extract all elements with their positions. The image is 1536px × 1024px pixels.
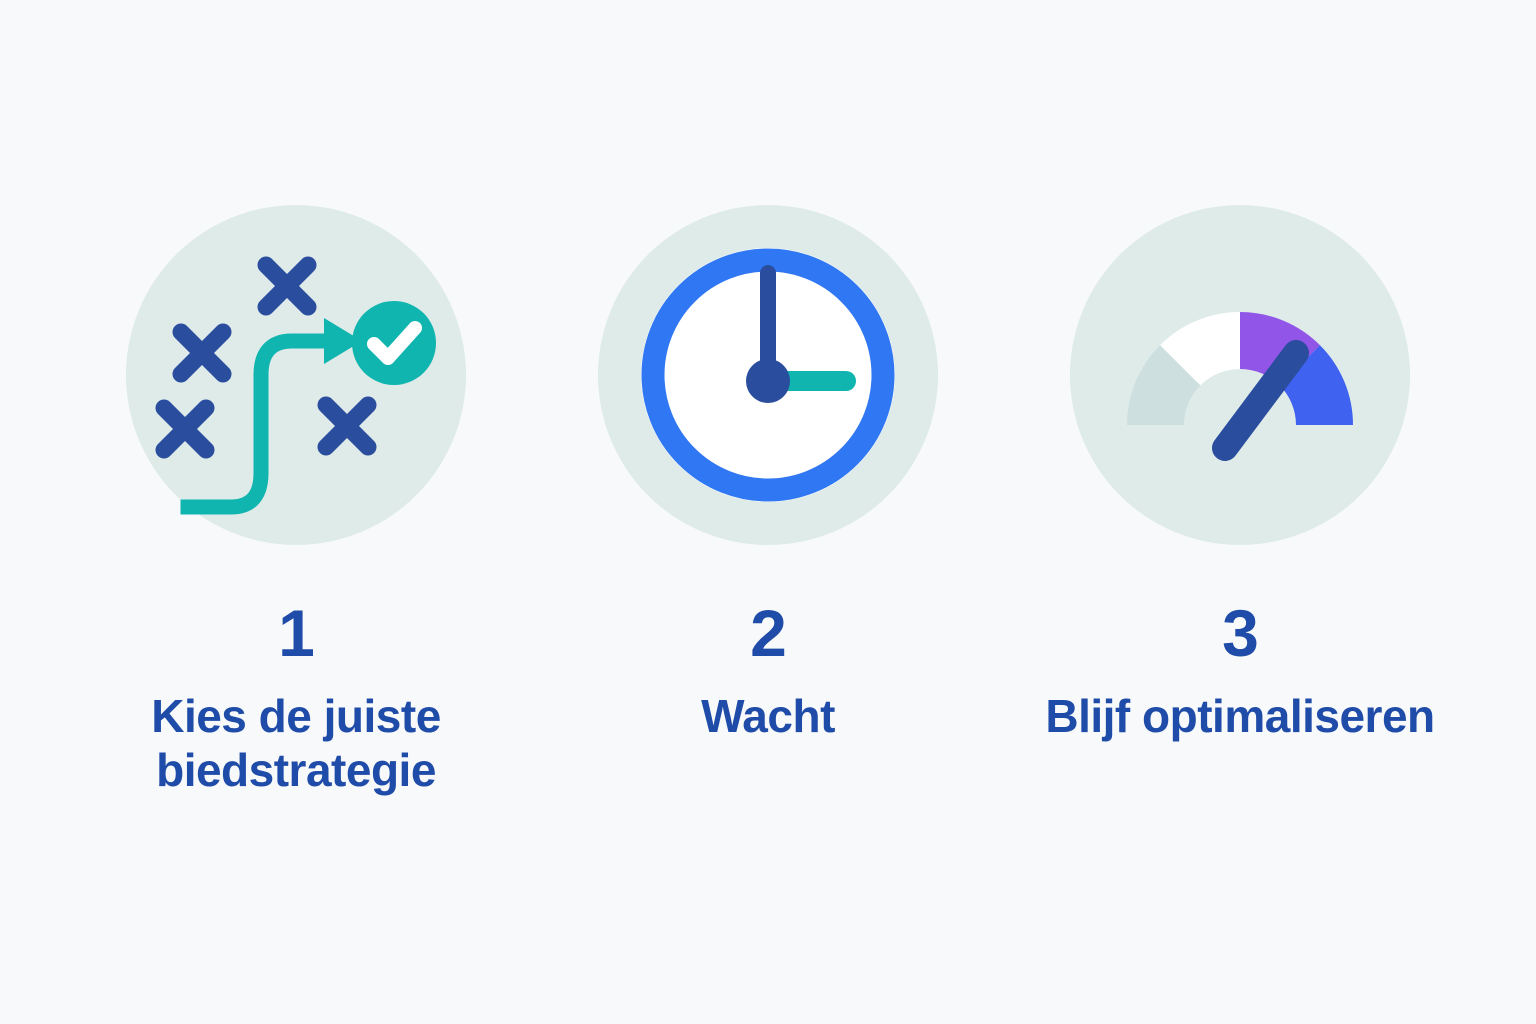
gauge-icon — [1070, 205, 1410, 545]
x-mark-top — [266, 265, 308, 307]
step-card-2: 2 Wacht — [532, 0, 1004, 744]
x-mark-left-upper — [181, 332, 223, 374]
clock-icon — [598, 205, 938, 545]
step-number-3: 3 — [1222, 600, 1258, 666]
step-1-icon-container — [126, 205, 466, 545]
step-number-2: 2 — [750, 600, 786, 666]
step-2-icon-container — [598, 205, 938, 545]
step-number-1: 1 — [278, 600, 314, 666]
step-3-icon-container — [1070, 205, 1410, 545]
infographic-canvas: 1 Kies de juiste biedstrategie 2 Wacht — [0, 0, 1536, 1024]
x-mark-left-lower — [164, 408, 206, 450]
step-card-3: 3 Blijf optimaliseren — [1004, 0, 1476, 744]
clock-center-hub — [746, 359, 790, 403]
step-label-1: Kies de juiste biedstrategie — [86, 690, 506, 798]
step-card-1: 1 Kies de juiste biedstrategie — [60, 0, 532, 798]
strategy-path-check-icon — [126, 205, 466, 545]
steps-row: 1 Kies de juiste biedstrategie 2 Wacht — [0, 0, 1536, 1024]
x-mark-right-lower — [326, 405, 368, 447]
step-label-3: Blijf optimaliseren — [1045, 690, 1434, 744]
step-label-2: Wacht — [701, 690, 835, 744]
